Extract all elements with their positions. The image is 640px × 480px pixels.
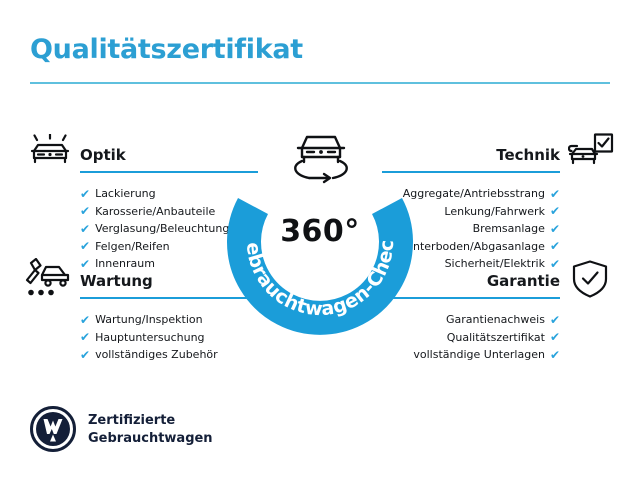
list-item-label: Lackierung bbox=[95, 185, 156, 203]
shield-check-icon bbox=[572, 260, 608, 298]
footer-line-1: Zertifizierte bbox=[88, 412, 213, 430]
vw-logo-icon bbox=[30, 406, 76, 452]
check-icon: ✔ bbox=[80, 240, 90, 252]
check-icon: ✔ bbox=[550, 349, 560, 361]
list-item-label: Unterboden/Abgasanlage bbox=[405, 238, 545, 256]
list-item-label: Karosserie/Anbauteile bbox=[95, 203, 215, 221]
check-icon: ✔ bbox=[550, 314, 560, 326]
list-item-label: vollständige Unterlagen bbox=[413, 346, 545, 364]
check-icon: ✔ bbox=[550, 331, 560, 343]
certificate-page: Qualitätszertifikat Optik ✔ Lackierung ✔ bbox=[0, 0, 640, 480]
check-icon: ✔ bbox=[80, 331, 90, 343]
car-checkbox-icon bbox=[568, 133, 614, 171]
check-icon: ✔ bbox=[550, 205, 560, 217]
car-lift-wrench-icon bbox=[24, 258, 72, 298]
check-icon: ✔ bbox=[80, 223, 90, 235]
list-item: vollständige Unterlagen ✔ bbox=[382, 346, 560, 364]
footer-text: Zertifizierte Gebrauchtwagen bbox=[88, 412, 213, 448]
list-item-label: Aggregate/Antriebsstrang bbox=[403, 185, 545, 203]
list-item-label: Bremsanlage bbox=[473, 220, 545, 238]
list-item-label: Wartung/Inspektion bbox=[95, 311, 203, 329]
check-icon: ✔ bbox=[80, 205, 90, 217]
list-item-label: Sicherheit/Elektrik bbox=[445, 255, 545, 273]
check-icon: ✔ bbox=[80, 258, 90, 270]
list-item-label: Verglasung/Beleuchtung bbox=[95, 220, 229, 238]
check-icon: ✔ bbox=[550, 223, 560, 235]
list-item-label: Qualitätszertifikat bbox=[447, 329, 545, 347]
badge-center-label: 360° bbox=[226, 214, 414, 249]
list-item: ✔ vollständiges Zubehör bbox=[80, 346, 258, 364]
check-icon: ✔ bbox=[550, 258, 560, 270]
check-icon: ✔ bbox=[550, 188, 560, 200]
footer-line-2: Gebrauchtwagen bbox=[88, 430, 213, 448]
title-divider bbox=[30, 82, 610, 84]
check-icon: ✔ bbox=[80, 188, 90, 200]
check-icon: ✔ bbox=[80, 314, 90, 326]
car-rotate-360-icon bbox=[285, 124, 357, 186]
check-icon: ✔ bbox=[550, 240, 560, 252]
page-title: Qualitätszertifikat bbox=[30, 34, 303, 65]
list-item-label: Felgen/Reifen bbox=[95, 238, 170, 256]
list-item-label: Hauptuntersuchung bbox=[95, 329, 204, 347]
list-item-label: vollständiges Zubehör bbox=[95, 346, 218, 364]
list-item-label: Garantienachweis bbox=[446, 311, 545, 329]
list-item-label: Innenraum bbox=[95, 255, 155, 273]
check-icon: ✔ bbox=[80, 349, 90, 361]
car-shine-icon bbox=[28, 134, 72, 170]
list-item-label: Lenkung/Fahrwerk bbox=[444, 203, 545, 221]
